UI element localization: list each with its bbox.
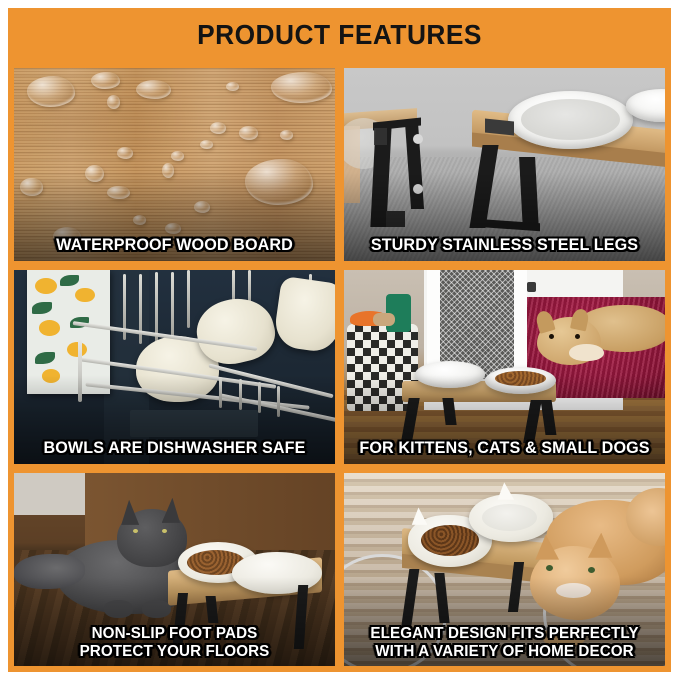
water-droplet — [107, 95, 120, 109]
water-droplet — [280, 130, 293, 140]
feature-panel-non-slip-foot-pads: NON-SLIP FOOT PADS PROTECT YOUR FLOORS — [14, 473, 335, 666]
header-banner: PRODUCT FEATURES — [8, 8, 671, 62]
feature-grid: WATERPROOF WOOD BOARD — [8, 62, 671, 672]
cat-tail — [14, 554, 85, 589]
cat-paw — [104, 600, 133, 617]
rack-tine — [239, 379, 242, 410]
lemon-motif — [75, 288, 95, 303]
toy-tan — [373, 313, 395, 327]
panel-caption: BOWLS ARE DISHWASHER SAFE — [22, 438, 327, 457]
leaf-motif — [35, 352, 55, 364]
water-droplet — [85, 165, 104, 182]
rack-side-bar — [78, 340, 82, 402]
leg-foot-pad — [386, 211, 405, 226]
photo-steel-legs — [344, 68, 665, 261]
water-droplet — [239, 126, 258, 140]
feature-panel-waterproof-wood-board: WATERPROOF WOOD BOARD — [14, 68, 335, 261]
water-droplet — [107, 186, 129, 200]
dog-snout — [569, 344, 604, 361]
water-droplet — [27, 76, 75, 107]
leaf-motif — [60, 275, 78, 286]
cat-eye — [133, 529, 138, 533]
panel-caption: NON-SLIP FOOT PADS PROTECT YOUR FLOORS — [22, 625, 327, 661]
feature-panel-kittens-cats-dogs: FOR KITTENS, CATS & SMALL DOGS — [344, 270, 665, 463]
cat-eye — [162, 529, 167, 533]
photo-wood-board — [14, 68, 335, 261]
water-droplet — [165, 223, 181, 235]
photo-crate-dog — [344, 270, 665, 463]
wall-corner-light — [14, 473, 85, 516]
water-droplet — [210, 122, 226, 134]
leg-screw — [413, 184, 423, 194]
rack-tine — [219, 377, 222, 408]
lemon-motif — [35, 278, 57, 294]
kibble-pile — [421, 525, 479, 556]
water-droplet — [226, 82, 239, 92]
feeder-leg-back — [519, 157, 539, 230]
panel-caption: STURDY STAINLESS STEEL LEGS — [352, 235, 657, 254]
water-droplet — [133, 215, 146, 225]
leaf-motif — [32, 302, 52, 313]
water-droplet — [20, 178, 42, 195]
lemon-motif — [39, 320, 61, 336]
rack-tine — [258, 382, 261, 413]
product-features-infographic: PRODUCT FEATURES — [0, 0, 679, 680]
water-droplet — [194, 201, 210, 213]
lemon-motif — [67, 342, 87, 357]
dishwasher-tray — [130, 410, 258, 437]
feature-panel-elegant-design: ELEGANT DESIGN FITS PERFECTLY WITH A VAR… — [344, 473, 665, 666]
rack-tine — [187, 270, 190, 328]
leg-foot-pad-upper — [374, 128, 387, 145]
water-droplet — [171, 151, 184, 161]
panel-caption: WATERPROOF WOOD BOARD — [22, 235, 327, 254]
panel-caption: ELEGANT DESIGN FITS PERFECTLY WITH A VAR… — [352, 625, 657, 661]
cat-paw — [142, 600, 171, 617]
lemon-print-towel — [27, 270, 110, 394]
crate-latch — [527, 282, 536, 292]
page-title: PRODUCT FEATURES — [197, 19, 482, 51]
photo-dishwasher — [14, 270, 335, 463]
lemon-motif — [42, 369, 60, 383]
water-droplet — [271, 72, 332, 103]
bowl-interior — [482, 504, 537, 531]
bowl-interior — [521, 99, 621, 140]
panel-caption: FOR KITTENS, CATS & SMALL DOGS — [352, 438, 657, 457]
water-droplet — [117, 147, 133, 159]
feature-panel-stainless-steel-legs: STURDY STAINLESS STEEL LEGS — [344, 68, 665, 261]
water-droplet — [91, 72, 120, 89]
feature-panel-dishwasher-safe: BOWLS ARE DISHWASHER SAFE — [14, 270, 335, 463]
leg-screw — [413, 134, 423, 144]
water-droplet — [200, 140, 213, 150]
water-droplet — [245, 159, 312, 205]
water-droplet — [162, 163, 175, 178]
rack-tine — [277, 386, 280, 417]
water-droplet — [136, 80, 171, 99]
rack-tine — [171, 272, 174, 342]
